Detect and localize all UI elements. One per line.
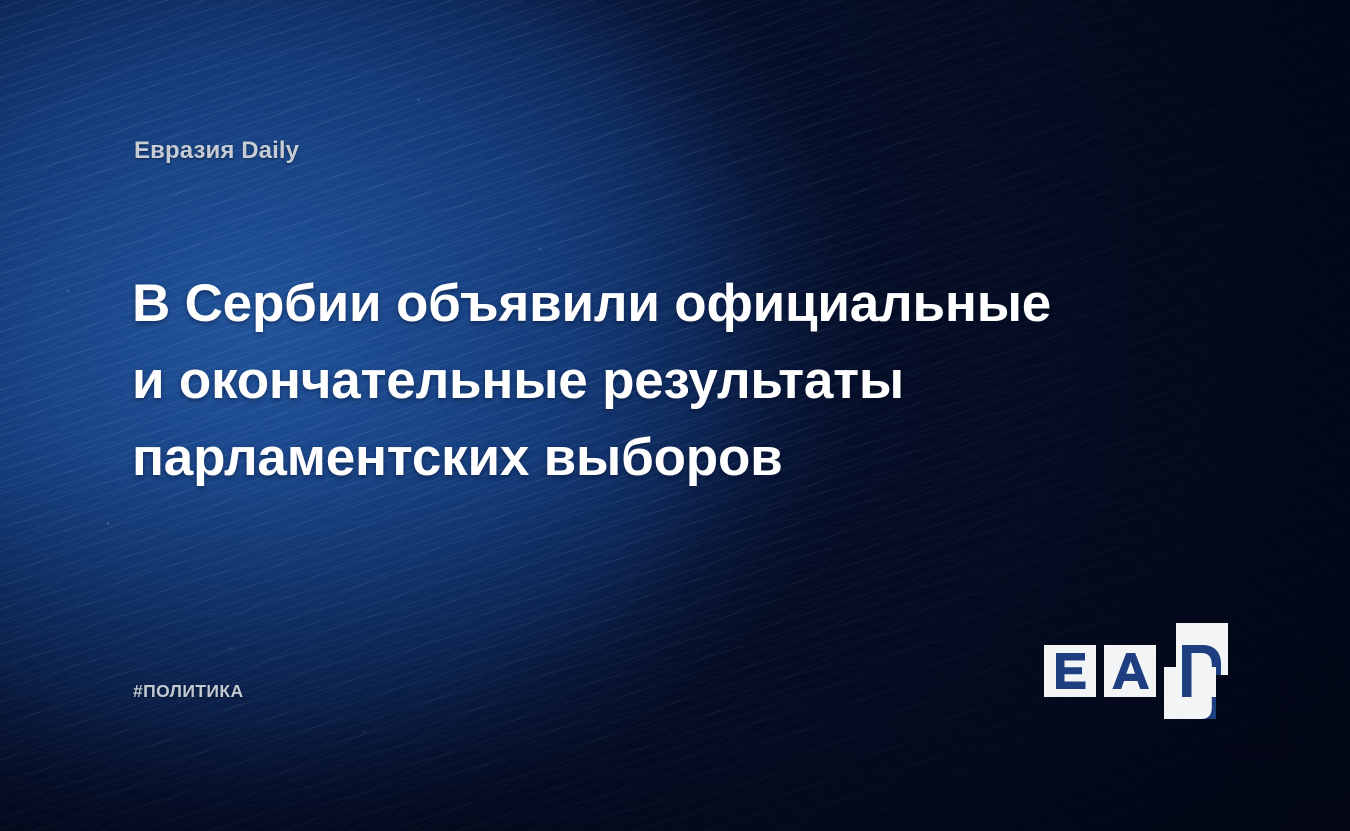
- page-title: В Сербии объявили официальные и окончате…: [132, 265, 1092, 496]
- logo-tile-a: [1104, 645, 1156, 697]
- logo-tile-e: [1044, 645, 1096, 697]
- logo-tile-d-bottom: [1164, 667, 1216, 719]
- headline-line-3: парламентских выборов: [132, 419, 1092, 496]
- category-hashtag: #ПОЛИТИКА: [133, 681, 244, 702]
- social-share-card: Евразия Daily В Сербии объявили официаль…: [0, 0, 1350, 831]
- brand-name: Евразия Daily: [134, 137, 299, 165]
- card-content: Евразия Daily В Сербии объявили официаль…: [0, 0, 1350, 831]
- headline-line-1: В Сербии объявили официальные: [132, 265, 1092, 342]
- eadaily-logo: [1044, 623, 1222, 719]
- headline-line-2: и окончательные результаты: [132, 342, 1092, 419]
